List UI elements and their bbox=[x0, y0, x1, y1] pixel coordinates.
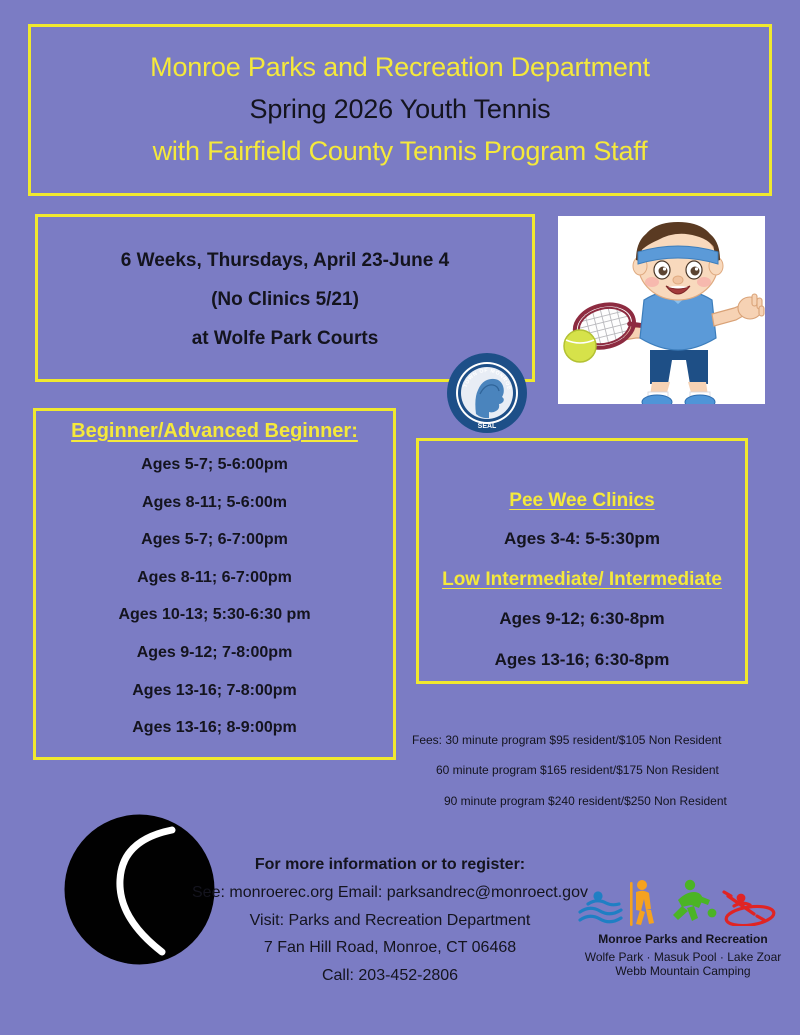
beginner-session: Ages 8-11; 6-7:00pm bbox=[137, 569, 292, 587]
beginner-session: Ages 5-7; 6-7:00pm bbox=[141, 531, 288, 549]
fee-line-60min: 60 minute program $165 resident/$175 Non… bbox=[400, 763, 770, 777]
tennis-boy-illustration bbox=[558, 216, 765, 404]
fee-line-90min: 90 minute program $240 resident/$250 Non… bbox=[400, 794, 770, 808]
detail-location: at Wolfe Park Courts bbox=[192, 328, 379, 350]
recreation-activity-icons bbox=[578, 878, 788, 926]
title-line-staff: with Fairfield County Tennis Program Sta… bbox=[153, 136, 648, 168]
seal-bottom-text: SEAL bbox=[478, 423, 497, 430]
beginner-session: Ages 5-7; 5-6:00pm bbox=[141, 456, 288, 474]
contact-website-email[interactable]: See: monroerec.org Email: parksandrec@mo… bbox=[175, 884, 605, 902]
contact-phone: Call: 203-452-2806 bbox=[175, 967, 605, 985]
peewee-intermediate-box: Pee Wee Clinics Ages 3-4: 5-5:30pm Low I… bbox=[416, 438, 748, 684]
contact-heading: For more information or to register: bbox=[175, 856, 605, 874]
peewee-session: Ages 3-4: 5-5:30pm bbox=[504, 529, 660, 549]
flyer-page: Monroe Parks and Recreation Department S… bbox=[0, 0, 800, 1035]
fees-block: Fees: 30 minute program $95 resident/$10… bbox=[400, 733, 770, 824]
title-line-department: Monroe Parks and Recreation Department bbox=[150, 52, 650, 84]
town-seal-icon: TOWN OF MONROE CONNECTICUT SEAL bbox=[446, 352, 528, 434]
town-of-monroe-seal: TOWN OF MONROE CONNECTICUT SEAL bbox=[446, 352, 528, 434]
detail-weeks-dates: 6 Weeks, Thursdays, April 23-June 4 bbox=[121, 250, 449, 272]
contact-address: 7 Fan Hill Road, Monroe, CT 06468 bbox=[175, 939, 605, 957]
swimmer-icon bbox=[580, 891, 621, 921]
contact-visit: Visit: Parks and Recreation Department bbox=[175, 912, 605, 930]
beginner-session: Ages 8-11; 5-6:00m bbox=[142, 494, 287, 512]
intermediate-session: Ages 13-16; 6:30-8pm bbox=[495, 650, 670, 670]
kayaker-icon bbox=[724, 892, 775, 926]
contact-block: For more information or to register: See… bbox=[175, 856, 605, 984]
intermediate-session: Ages 9-12; 6:30-8pm bbox=[499, 609, 664, 629]
detail-no-clinics: (No Clinics 5/21) bbox=[211, 289, 359, 311]
beginner-session: Ages 13-16; 8-9:00pm bbox=[132, 719, 297, 737]
fee-line-30min: Fees: 30 minute program $95 resident/$10… bbox=[400, 733, 770, 747]
title-box: Monroe Parks and Recreation Department S… bbox=[28, 24, 772, 196]
title-line-program: Spring 2026 Youth Tennis bbox=[250, 94, 551, 126]
runner-icon bbox=[673, 880, 716, 921]
peewee-heading: Pee Wee Clinics bbox=[509, 490, 654, 512]
intermediate-heading: Low Intermediate/ Intermediate bbox=[442, 569, 722, 591]
beginner-session: Ages 13-16; 7-8:00pm bbox=[132, 682, 297, 700]
beginner-heading: Beginner/Advanced Beginner: bbox=[71, 420, 358, 443]
tennis-boy-photo bbox=[558, 216, 765, 404]
beginner-session: Ages 10-13; 5:30-6:30 pm bbox=[118, 606, 310, 624]
beginner-schedule-box: Beginner/Advanced Beginner: Ages 5-7; 5-… bbox=[33, 408, 396, 760]
department-name: Monroe Parks and Recreation bbox=[572, 932, 794, 946]
department-logo-block: Monroe Parks and Recreation Wolfe Park ·… bbox=[572, 878, 794, 978]
hiker-icon bbox=[630, 880, 654, 926]
department-parks-list: Wolfe Park · Masuk Pool · Lake Zoar Webb… bbox=[572, 950, 794, 978]
beginner-session: Ages 9-12; 7-8:00pm bbox=[137, 644, 293, 662]
